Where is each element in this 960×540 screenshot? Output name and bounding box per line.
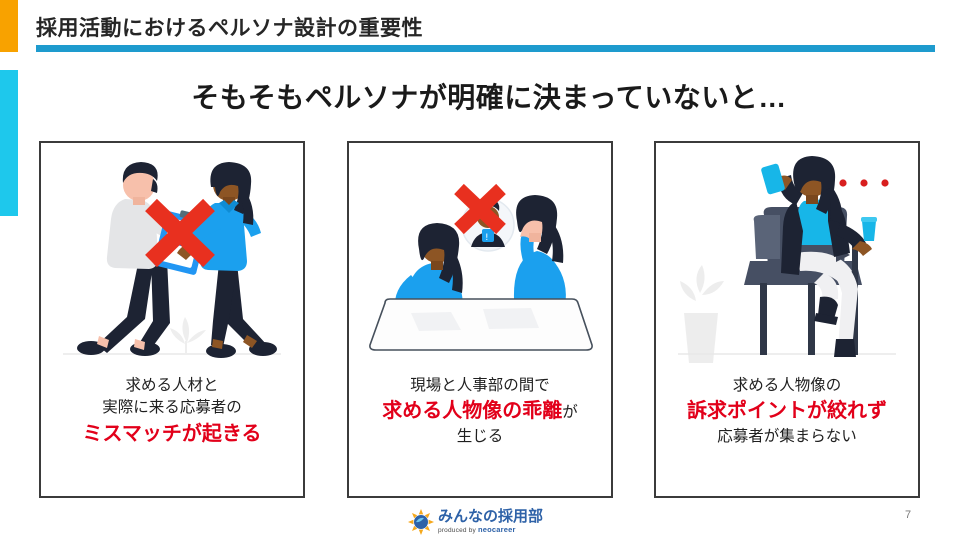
caption-line-1: 求める人材と [41,375,303,397]
caption-line-2-highlight: 訴求ポイントが絞れず [656,397,918,426]
page-number: 7 [905,509,911,521]
illustration-two-women-at-table-rejecting-profile-with-red-x: ! [349,143,611,371]
caption-line-1: 求める人物像の [656,375,918,397]
page-title: 採用活動におけるペルソナ設計の重要性 [36,12,423,42]
illustration-woman-sitting-in-armchair-with-phone-and-dots [656,143,918,371]
caption-line-3: 応募者が集まらない [656,426,918,448]
card-caption: 求める人物像の 訴求ポイントが絞れず 応募者が集まらない [656,375,918,449]
title-underline-rule [36,45,935,52]
caption-highlight-text: 求める人物像の乖離 [382,400,562,422]
card-caption: 求める人材と 実際に来る応募者の ミスマッチが起きる [41,375,303,449]
sun-flower-logo-mark-icon [408,509,434,535]
slide-canvas: 採用活動におけるペルソナ設計の重要性 そもそもペルソナが明確に決まっていないと… [0,0,960,540]
accent-bar-orange [0,0,18,52]
caption-highlight-suffix: が [562,404,578,421]
card-unfocused-appeal: 求める人物像の 訴求ポイントが絞れず 応募者が集まらない [654,141,920,498]
illustration-two-people-exchanging-document-with-red-x [41,143,303,371]
footer-logo: みんなの採用部 produced by neocareer [408,507,556,537]
card-divergence: ! [347,141,613,498]
slide-subtitle: そもそもペルソナが明確に決まっていないと… [0,76,960,116]
caption-line-3: 生じる [349,426,611,448]
caption-line-1: 現場と人事部の間で [349,375,611,397]
svg-text:!: ! [485,233,489,243]
card-mismatch: 求める人材と 実際に来る応募者の ミスマッチが起きる [39,141,305,498]
card-caption: 現場と人事部の間で 求める人物像の乖離が 生じる [349,375,611,449]
logo-sub-brand: neocareer [478,525,516,534]
caption-line-2: 実際に来る応募者の [41,397,303,419]
logo-title: みんなの採用部 [438,509,543,524]
logo-subtitle: produced by neocareer [438,526,543,535]
caption-line-3-highlight: ミスマッチが起きる [41,420,303,449]
logo-text-group: みんなの採用部 produced by neocareer [438,509,543,535]
caption-line-2-highlight: 求める人物像の乖離が [349,397,611,426]
logo-sub-prefix: produced by [438,527,478,534]
